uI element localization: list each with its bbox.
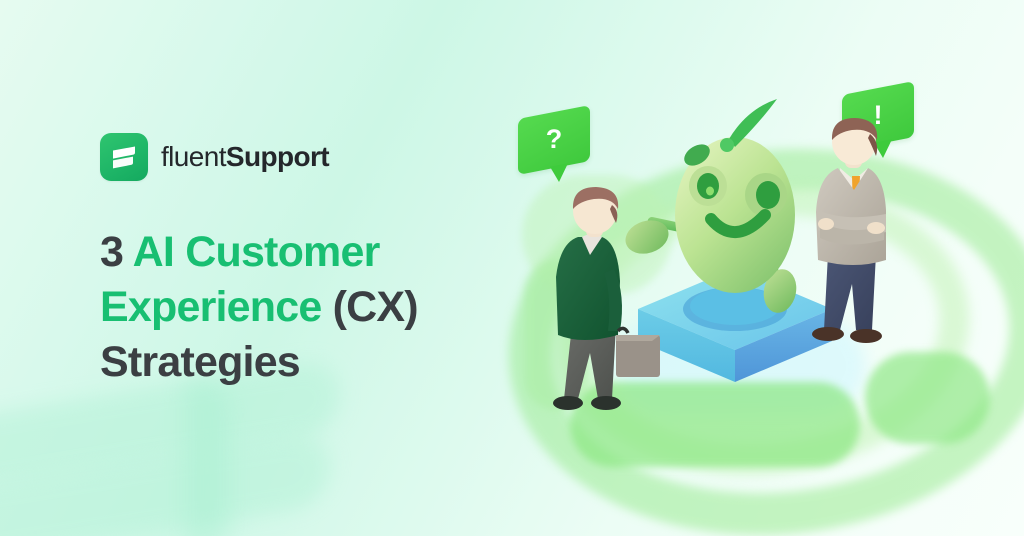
headline-part-5: Strategies: [100, 338, 300, 386]
robot-left-eye: [697, 173, 719, 199]
page-title: 3 AI CustomerExperience (CX)Strategies: [100, 225, 470, 390]
headline-part-2: AI Customer: [133, 228, 380, 276]
brand-name-bold: Support: [226, 141, 329, 172]
blog-banner: fluentSupport 3 AI CustomerExperience (C…: [0, 0, 1024, 536]
hero-illustration: ? !: [470, 0, 1024, 536]
person-right-grey-suit: [790, 118, 920, 363]
brand-logo[interactable]: fluentSupport: [100, 133, 500, 181]
question-bubble-label: ?: [518, 126, 590, 153]
robot-right-eye: [756, 181, 780, 209]
banner-text-column: fluentSupport 3 AI CustomerExperience (C…: [100, 133, 500, 419]
question-bubble: ?: [518, 105, 590, 175]
headline-part-3: Experience: [100, 283, 321, 331]
left-person-briefcase: [616, 328, 660, 377]
fluent-support-mark-icon: [100, 133, 148, 181]
headline-part-1: 3: [100, 228, 133, 276]
headline-part-4: (CX): [321, 283, 417, 331]
brand-name-light: fluent: [161, 141, 226, 172]
right-person-trousers: [824, 254, 876, 330]
brand-logo-text: fluentSupport: [161, 143, 329, 171]
person-left-green-sweater: [532, 185, 662, 430]
robot-antenna: [729, 99, 777, 147]
